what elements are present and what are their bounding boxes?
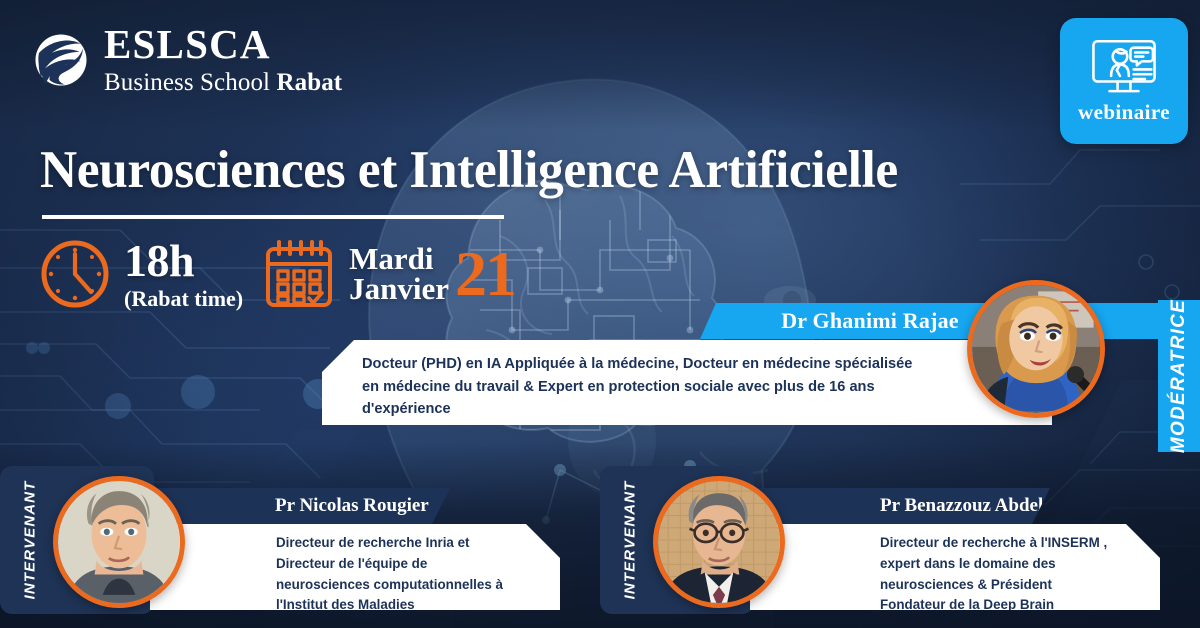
event-time: 18h (Rabat time) — [38, 237, 243, 311]
speaker-1-role-strip: INTERVENANT — [8, 466, 52, 614]
webinaire-badge-label: webinaire — [1078, 100, 1170, 125]
speaker-1-bio-card: Directeur de recherche Inria et Directeu… — [150, 524, 560, 610]
brand-subtitle-city: Rabat — [276, 69, 342, 96]
speaker-1-portrait — [58, 481, 180, 603]
title-underline — [42, 215, 504, 219]
speaker-2-bio: Directeur de recherche à l'INSERM , expe… — [750, 524, 1160, 628]
speaker-2-bio-card: Directeur de recherche à l'INSERM , expe… — [750, 524, 1160, 610]
speaker-1-name: Pr Nicolas Rougier — [150, 495, 429, 517]
speaker-1-avatar — [53, 476, 185, 608]
speaker-1-name-banner: Pr Nicolas Rougier — [150, 488, 450, 524]
speaker-2-portrait — [658, 481, 780, 603]
event-date: Mardi Janvier 21 — [261, 236, 515, 312]
webinar-poster: ESLSCA Business School Rabat webinaire N… — [0, 0, 1200, 628]
moderator-role-label: MODÉRATRICE — [1168, 299, 1190, 453]
moderator-bio-card: Docteur (PHD) en IA Appliquée à la médec… — [322, 340, 1052, 425]
event-date-month: Janvier — [349, 274, 449, 304]
webinaire-badge: webinaire — [1060, 18, 1188, 144]
speaker-1-role-label: INTERVENANT — [22, 481, 39, 600]
moderator-avatar — [967, 280, 1105, 418]
calendar-icon — [261, 236, 337, 312]
webinar-monitor-icon — [1087, 37, 1161, 97]
event-date-day: 21 — [455, 247, 515, 301]
event-meta: 18h (Rabat time) Mardi — [38, 236, 515, 312]
brand-subtitle: Business School Rabat — [104, 70, 342, 95]
event-date-weekday: Mardi — [349, 244, 449, 274]
moderator-portrait — [972, 285, 1100, 413]
brand-name: ESLSCA — [104, 24, 342, 65]
moderator-role-strip: MODÉRATRICE — [1158, 300, 1200, 452]
event-time-value: 18h — [124, 238, 243, 284]
eslsca-globe-icon — [32, 31, 90, 89]
speaker-2-name: Pr Benazzouz Abdel-Hamid — [750, 495, 1106, 517]
page-title: Neurosciences et Intelligence Artificiel… — [40, 144, 1020, 197]
speaker-2-avatar — [653, 476, 785, 608]
speaker-card-2: INTERVENANT Pr Benazzouz Abdel-Hamid Dir… — [600, 466, 1190, 614]
brand-subtitle-prefix: Business School — [104, 69, 276, 96]
clock-icon — [38, 237, 112, 311]
event-time-note: (Rabat time) — [124, 288, 243, 310]
speaker-2-role-strip: INTERVENANT — [608, 466, 652, 614]
speaker-2-name-banner: Pr Benazzouz Abdel-Hamid — [750, 488, 1050, 524]
moderator-bio: Docteur (PHD) en IA Appliquée à la médec… — [322, 340, 1052, 421]
brand-logo: ESLSCA Business School Rabat — [32, 24, 342, 95]
speaker-2-role-label: INTERVENANT — [622, 481, 639, 600]
